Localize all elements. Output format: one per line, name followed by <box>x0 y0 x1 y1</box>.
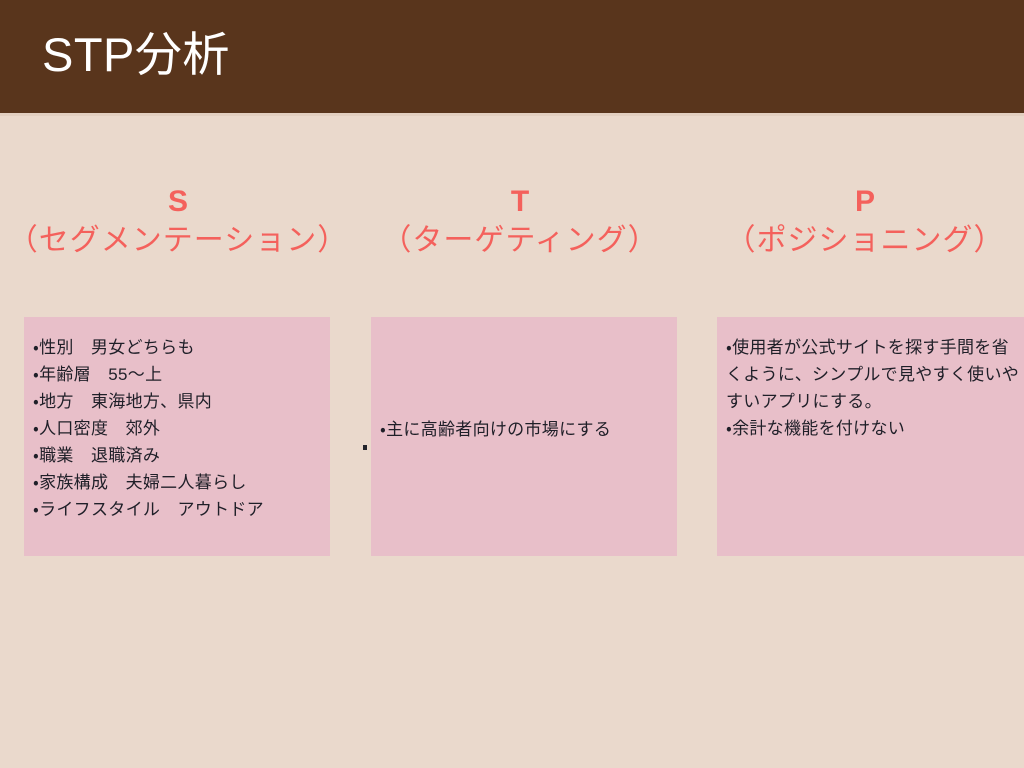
column-header-targeting: T （ターゲティング） <box>355 185 685 263</box>
column-letter-p: P <box>700 185 1024 219</box>
column-label-targeting: （ターゲティング） <box>355 219 685 263</box>
stray-bullet-mark <box>363 445 367 450</box>
slide-canvas: STP分析 S （セグメンテーション） T （ターゲティング） P （ポジショニ… <box>0 0 1024 768</box>
column-letter-s: S <box>6 185 350 219</box>
column-label-positioning: （ポジショニング） <box>700 219 1024 263</box>
page-title: STP分析 <box>42 27 230 83</box>
column-letter-t: T <box>355 185 685 219</box>
segmentation-body-text: ・性別 男女どちらも ・年齢層 55〜上 ・地方 東海地方、県内 ・人口密度 郊… <box>33 334 325 523</box>
content-box-segmentation: ・性別 男女どちらも ・年齢層 55〜上 ・地方 東海地方、県内 ・人口密度 郊… <box>24 317 330 556</box>
content-box-targeting: ・主に高齢者向けの市場にする <box>371 317 677 556</box>
title-band-underline <box>0 113 1024 116</box>
column-header-segmentation: S （セグメンテーション） <box>6 185 350 263</box>
content-box-positioning: ・使用者が公式サイトを探す手間を省くように、シンプルで見やすく使いやすいアプリに… <box>717 317 1024 556</box>
positioning-body-text: ・使用者が公式サイトを探す手間を省くように、シンプルで見やすく使いやすいアプリに… <box>726 334 1024 442</box>
column-label-segmentation: （セグメンテーション） <box>6 219 350 263</box>
column-header-positioning: P （ポジショニング） <box>700 185 1024 263</box>
targeting-body-text: ・主に高齢者向けの市場にする <box>380 416 672 443</box>
